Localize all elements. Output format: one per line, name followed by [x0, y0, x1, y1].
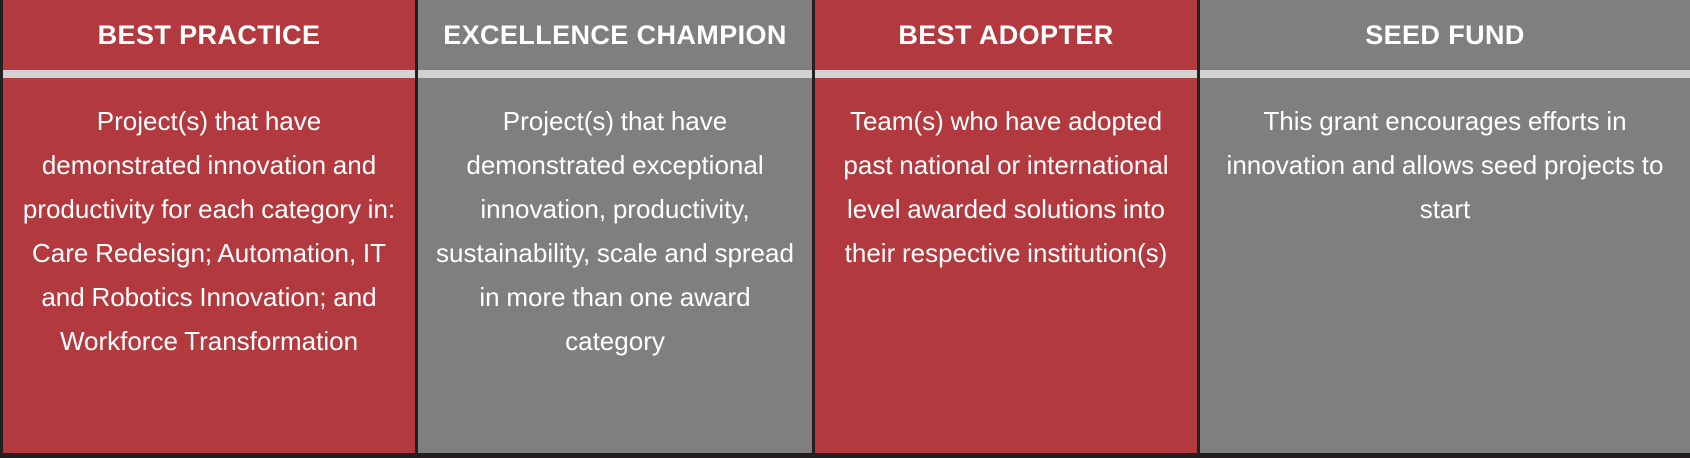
column-header-seed-fund: SEED FUND [1200, 0, 1690, 70]
column-header-label: BEST PRACTICE [98, 21, 321, 49]
award-column-seed-fund: SEED FUND This grant encourages efforts … [1197, 0, 1690, 453]
header-divider-rule [815, 70, 1197, 78]
column-header-label: BEST ADOPTER [898, 21, 1113, 49]
column-body-excellence-champion: Project(s) that have demonstrated except… [418, 78, 812, 453]
header-divider-rule [1200, 70, 1690, 78]
column-header-excellence-champion: EXCELLENCE CHAMPION [418, 0, 812, 70]
column-header-best-adopter: BEST ADOPTER [815, 0, 1197, 70]
header-divider-rule [3, 70, 415, 78]
award-column-excellence-champion: EXCELLENCE CHAMPION Project(s) that have… [415, 0, 812, 453]
column-body-best-adopter: Team(s) who have adopted past national o… [815, 78, 1197, 453]
award-column-best-practice: BEST PRACTICE Project(s) that have demon… [3, 0, 415, 453]
award-categories-table: BEST PRACTICE Project(s) that have demon… [0, 0, 1690, 458]
column-body-best-practice: Project(s) that have demonstrated innova… [3, 78, 415, 453]
column-header-best-practice: BEST PRACTICE [3, 0, 415, 70]
column-body-text: This grant encourages efforts in innovat… [1214, 100, 1676, 232]
column-body-seed-fund: This grant encourages efforts in innovat… [1200, 78, 1690, 453]
award-column-best-adopter: BEST ADOPTER Team(s) who have adopted pa… [812, 0, 1197, 453]
column-body-text: Project(s) that have demonstrated except… [432, 100, 798, 364]
column-header-label: SEED FUND [1365, 21, 1525, 49]
column-body-text: Project(s) that have demonstrated innova… [17, 100, 401, 364]
column-header-label: EXCELLENCE CHAMPION [443, 21, 787, 49]
header-divider-rule [418, 70, 812, 78]
column-body-text: Team(s) who have adopted past national o… [829, 100, 1183, 276]
